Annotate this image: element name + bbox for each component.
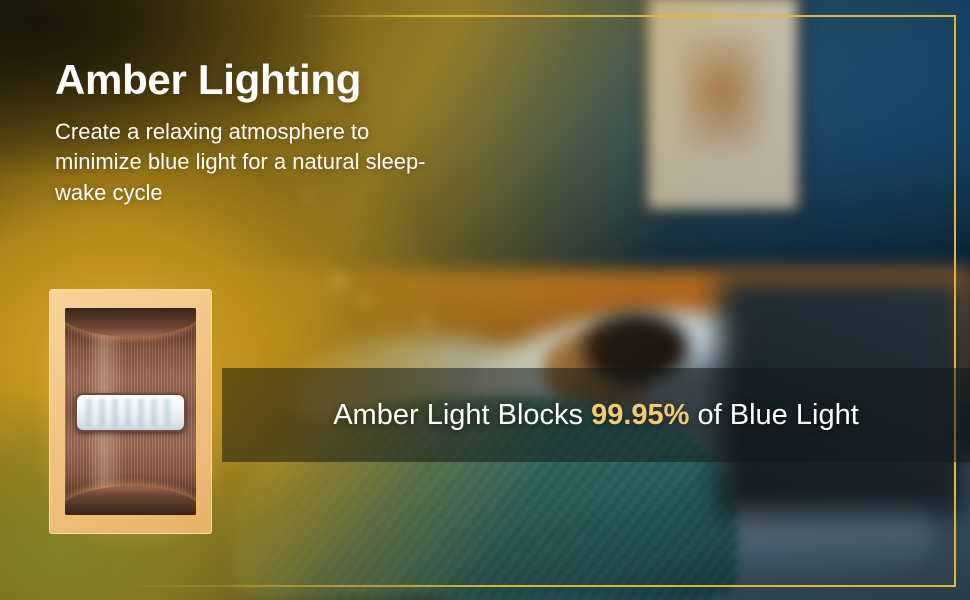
claim-banner: Amber Light Blocks 99.95% of Blue Light [222, 368, 970, 462]
claim-prefix: Amber Light Blocks [333, 399, 591, 431]
sensor-window [75, 393, 185, 432]
amber-lighting-banner: Amber Lighting Create a relaxing atmosph… [0, 0, 970, 600]
product-faceplate [65, 308, 196, 515]
frame-line-bottom [120, 585, 956, 587]
product-bezel [49, 289, 212, 534]
claim-percentage: 99.95% [591, 399, 689, 431]
page-subtitle: Create a relaxing atmosphere to minimize… [55, 117, 455, 208]
page-title: Amber Lighting [55, 58, 361, 102]
sensor-lens-pattern [86, 399, 175, 426]
frame-line-top [300, 15, 955, 17]
frame-line-right [954, 15, 956, 586]
product-night-light [49, 289, 212, 534]
claim-suffix: of Blue Light [689, 399, 858, 431]
claim-text: Amber Light Blocks 99.95% of Blue Light [333, 399, 859, 432]
